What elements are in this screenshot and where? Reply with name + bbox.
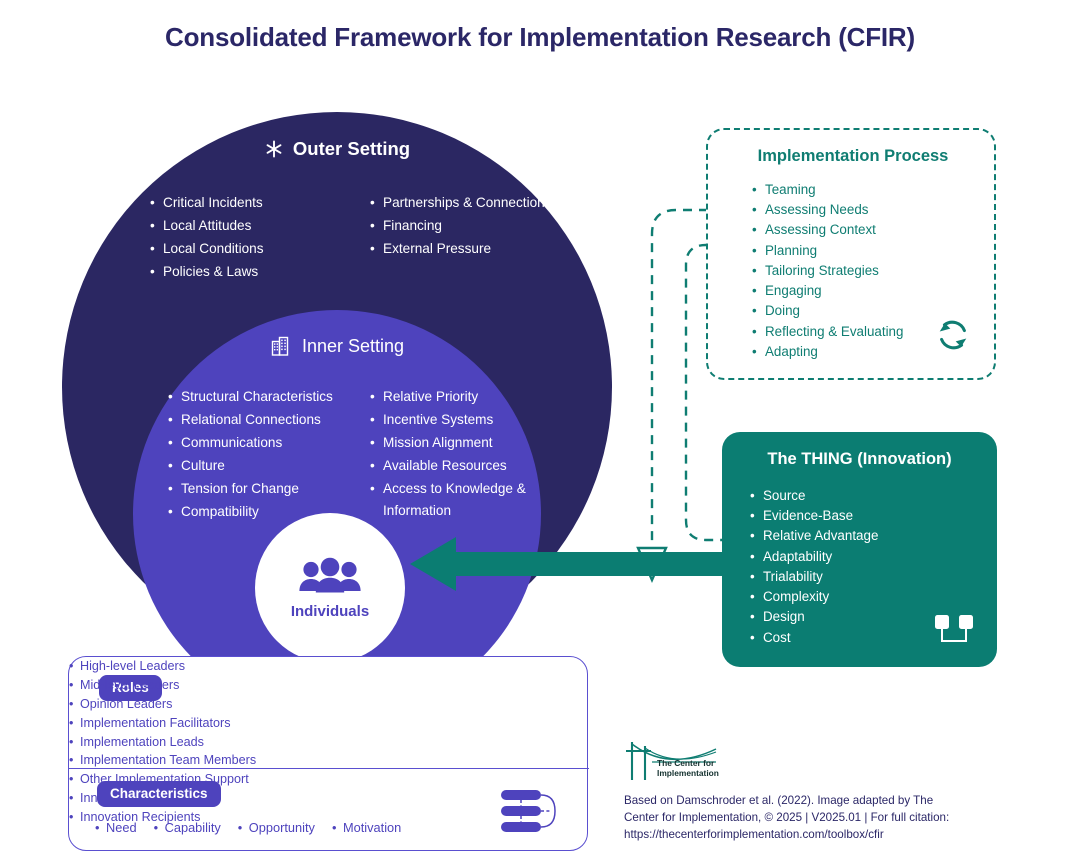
characteristics-item: Motivation — [332, 820, 401, 835]
inner-setting-item: Access to Knowledge & Information — [370, 478, 548, 522]
roles-item: Implementation Team Members — [69, 751, 587, 770]
the-thing-list: SourceEvidence-BaseRelative AdvantageAda… — [750, 486, 878, 648]
citation-line-2: Center for Implementation, © 2025 | V202… — [624, 810, 1024, 827]
implementation-process-item: Planning — [752, 241, 903, 261]
characteristics-item: Opportunity — [238, 820, 315, 835]
individuals-bubble: Individuals — [255, 513, 405, 663]
implementation-process-title: Implementation Process — [708, 147, 998, 166]
stacked-bars-loop-icon — [499, 787, 561, 835]
the-thing-box: The THING (Innovation) SourceEvidence-Ba… — [722, 432, 997, 667]
outer-setting-item: Policies & Laws — [150, 261, 340, 283]
outer-setting-heading: Outer Setting — [62, 138, 612, 160]
roles-column-1: High-level LeadersMid-level Leaders — [69, 657, 587, 695]
citation-line-1: Based on Damschroder et al. (2022). Imag… — [624, 793, 1024, 810]
citation-text: Based on Damschroder et al. (2022). Imag… — [624, 793, 1024, 843]
network-nodes-icon — [933, 613, 975, 645]
the-thing-item: Design — [750, 607, 878, 627]
logo-line-1: The Center for — [657, 758, 719, 768]
the-thing-item: Source — [750, 486, 878, 506]
the-thing-item: Trialability — [750, 567, 878, 587]
inner-setting-column-1: Structural CharacteristicsRelational Con… — [168, 386, 346, 524]
outer-setting-item: External Pressure — [370, 238, 560, 260]
inner-setting-heading: Inner Setting — [133, 335, 541, 357]
process-arrow-label: Process — [962, 16, 1062, 40]
implementation-process-item: Adapting — [752, 342, 903, 362]
process-text: Process — [996, 18, 1062, 38]
inner-setting-item: Incentive Systems — [370, 409, 548, 431]
inner-setting-item: Communications — [168, 432, 346, 454]
implementation-process-item: Assessing Context — [752, 220, 903, 240]
the-thing-item: Complexity — [750, 587, 878, 607]
characteristics-item: Capability — [154, 820, 221, 835]
inner-setting-item: Relational Connections — [168, 409, 346, 431]
citation-line-3: https://thecenterforimplementation.com/t… — [624, 827, 1024, 844]
outer-setting-lists: Critical IncidentsLocal AttitudesLocal C… — [150, 192, 570, 284]
characteristics-item: Need — [95, 820, 137, 835]
logo-line-2: Implementation — [657, 768, 719, 778]
outer-setting-column-2: Partnerships & ConnectionsFinancingExter… — [370, 192, 560, 284]
the-thing-item: Cost — [750, 628, 878, 648]
the-thing-item: Evidence-Base — [750, 506, 878, 526]
building-icon — [270, 335, 292, 357]
page-title: Consolidated Framework for Implementatio… — [0, 22, 1080, 53]
outer-setting-title: Outer Setting — [293, 138, 410, 160]
cycle-arrows-icon — [962, 16, 986, 40]
the-thing-item: Adaptability — [750, 547, 878, 567]
people-group-icon — [297, 557, 363, 597]
the-thing-item: Relative Advantage — [750, 526, 878, 546]
implementation-process-box: Implementation Process TeamingAssessing … — [706, 128, 996, 380]
implementation-process-item: Assessing Needs — [752, 200, 903, 220]
individuals-detail-panel: Roles High-level LeadersMid-level Leader… — [68, 656, 588, 851]
characteristics-list: NeedCapabilityOpportunityMotivation — [95, 820, 401, 835]
logo-text: The Center for Implementation — [657, 758, 719, 779]
implementation-process-item: Reflecting & Evaluating — [752, 322, 903, 342]
roles-column-2: Opinion LeadersImplementation Facilitato… — [69, 695, 587, 771]
asterisk-icon — [264, 139, 284, 159]
characteristics-pill-label: Characteristics — [97, 781, 221, 807]
outer-setting-item: Financing — [370, 215, 560, 237]
outer-setting-column-1: Critical IncidentsLocal AttitudesLocal C… — [150, 192, 340, 284]
implementation-process-list: TeamingAssessing NeedsAssessing ContextP… — [752, 180, 903, 362]
roles-item: Opinion Leaders — [69, 695, 587, 714]
roles-item: Implementation Leads — [69, 733, 587, 752]
inner-setting-item: Culture — [168, 455, 346, 477]
implementation-process-item: Tailoring Strategies — [752, 261, 903, 281]
inner-setting-item: Relative Priority — [370, 386, 548, 408]
characteristics-pill: Characteristics — [97, 781, 221, 807]
inner-setting-column-2: Relative PriorityIncentive SystemsMissio… — [370, 386, 548, 524]
individuals-label: Individuals — [291, 603, 369, 620]
inner-setting-item: Structural Characteristics — [168, 386, 346, 408]
roles-item: Mid-level Leaders — [69, 676, 587, 695]
roles-item: Implementation Facilitators — [69, 714, 587, 733]
cycle-arrows-icon — [934, 316, 972, 354]
outer-setting-item: Local Attitudes — [150, 215, 340, 237]
outer-setting-item: Partnerships & Connections — [370, 192, 560, 214]
outer-setting-item: Critical Incidents — [150, 192, 340, 214]
implementation-process-item: Doing — [752, 301, 903, 321]
inner-setting-item: Mission Alignment — [370, 432, 548, 454]
inner-setting-lists: Structural CharacteristicsRelational Con… — [168, 386, 568, 524]
implementation-process-item: Engaging — [752, 281, 903, 301]
roles-item: High-level Leaders — [69, 657, 587, 676]
outer-setting-item: Local Conditions — [150, 238, 340, 260]
inner-setting-title: Inner Setting — [302, 336, 404, 357]
inner-setting-item: Tension for Change — [168, 478, 346, 500]
cfir-diagram: Consolidated Framework for Implementatio… — [0, 0, 1080, 867]
implementation-process-item: Teaming — [752, 180, 903, 200]
inner-setting-item: Available Resources — [370, 455, 548, 477]
the-thing-title: The THING (Innovation) — [722, 450, 997, 469]
process-arrow-shape — [410, 535, 730, 593]
